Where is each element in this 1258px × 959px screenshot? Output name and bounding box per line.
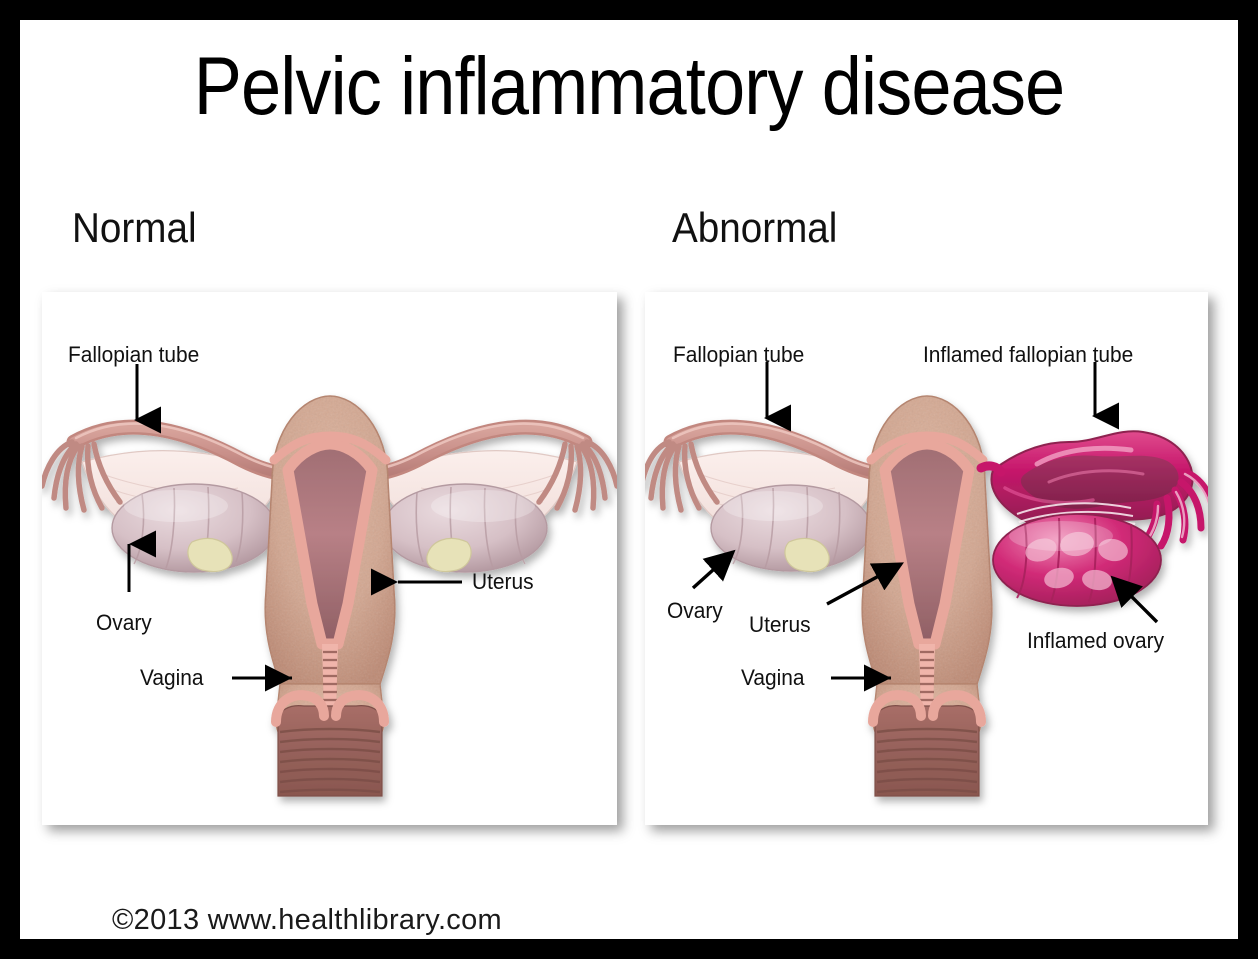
- callout-uterus-abnormal: Uterus: [749, 614, 811, 636]
- panel-caption-abnormal: Abnormal: [672, 207, 837, 249]
- callout-inflamed-ovary: Inflamed ovary: [1027, 630, 1164, 652]
- poster-root: Pelvic inflammatory disease Normal Abnor…: [0, 0, 1258, 959]
- panel-normal: Fallopian tube Ovary Uterus Vagina: [42, 292, 617, 825]
- panel-caption-normal: Normal: [72, 207, 197, 249]
- copyright-notice: ©2013 www.healthlibrary.com: [112, 904, 502, 937]
- normal-callout-arrows: [42, 292, 617, 825]
- callout-ovary-abnormal: Ovary: [667, 600, 723, 622]
- poster-card: Pelvic inflammatory disease Normal Abnor…: [20, 20, 1238, 939]
- abnormal-callout-arrows: [645, 292, 1208, 825]
- callout-vagina-abnormal: Vagina: [741, 667, 805, 689]
- callout-vagina: Vagina: [140, 667, 204, 689]
- callout-uterus: Uterus: [472, 571, 534, 593]
- callout-fallopian-tube-abnormal: Fallopian tube: [673, 344, 804, 366]
- page-title: Pelvic inflammatory disease: [93, 46, 1165, 128]
- panel-abnormal: Fallopian tube Inflamed fallopian tube O…: [645, 292, 1208, 825]
- callout-fallopian-tube: Fallopian tube: [68, 344, 199, 366]
- callout-ovary: Ovary: [96, 612, 152, 634]
- callout-inflamed-fallopian-tube: Inflamed fallopian tube: [923, 344, 1133, 366]
